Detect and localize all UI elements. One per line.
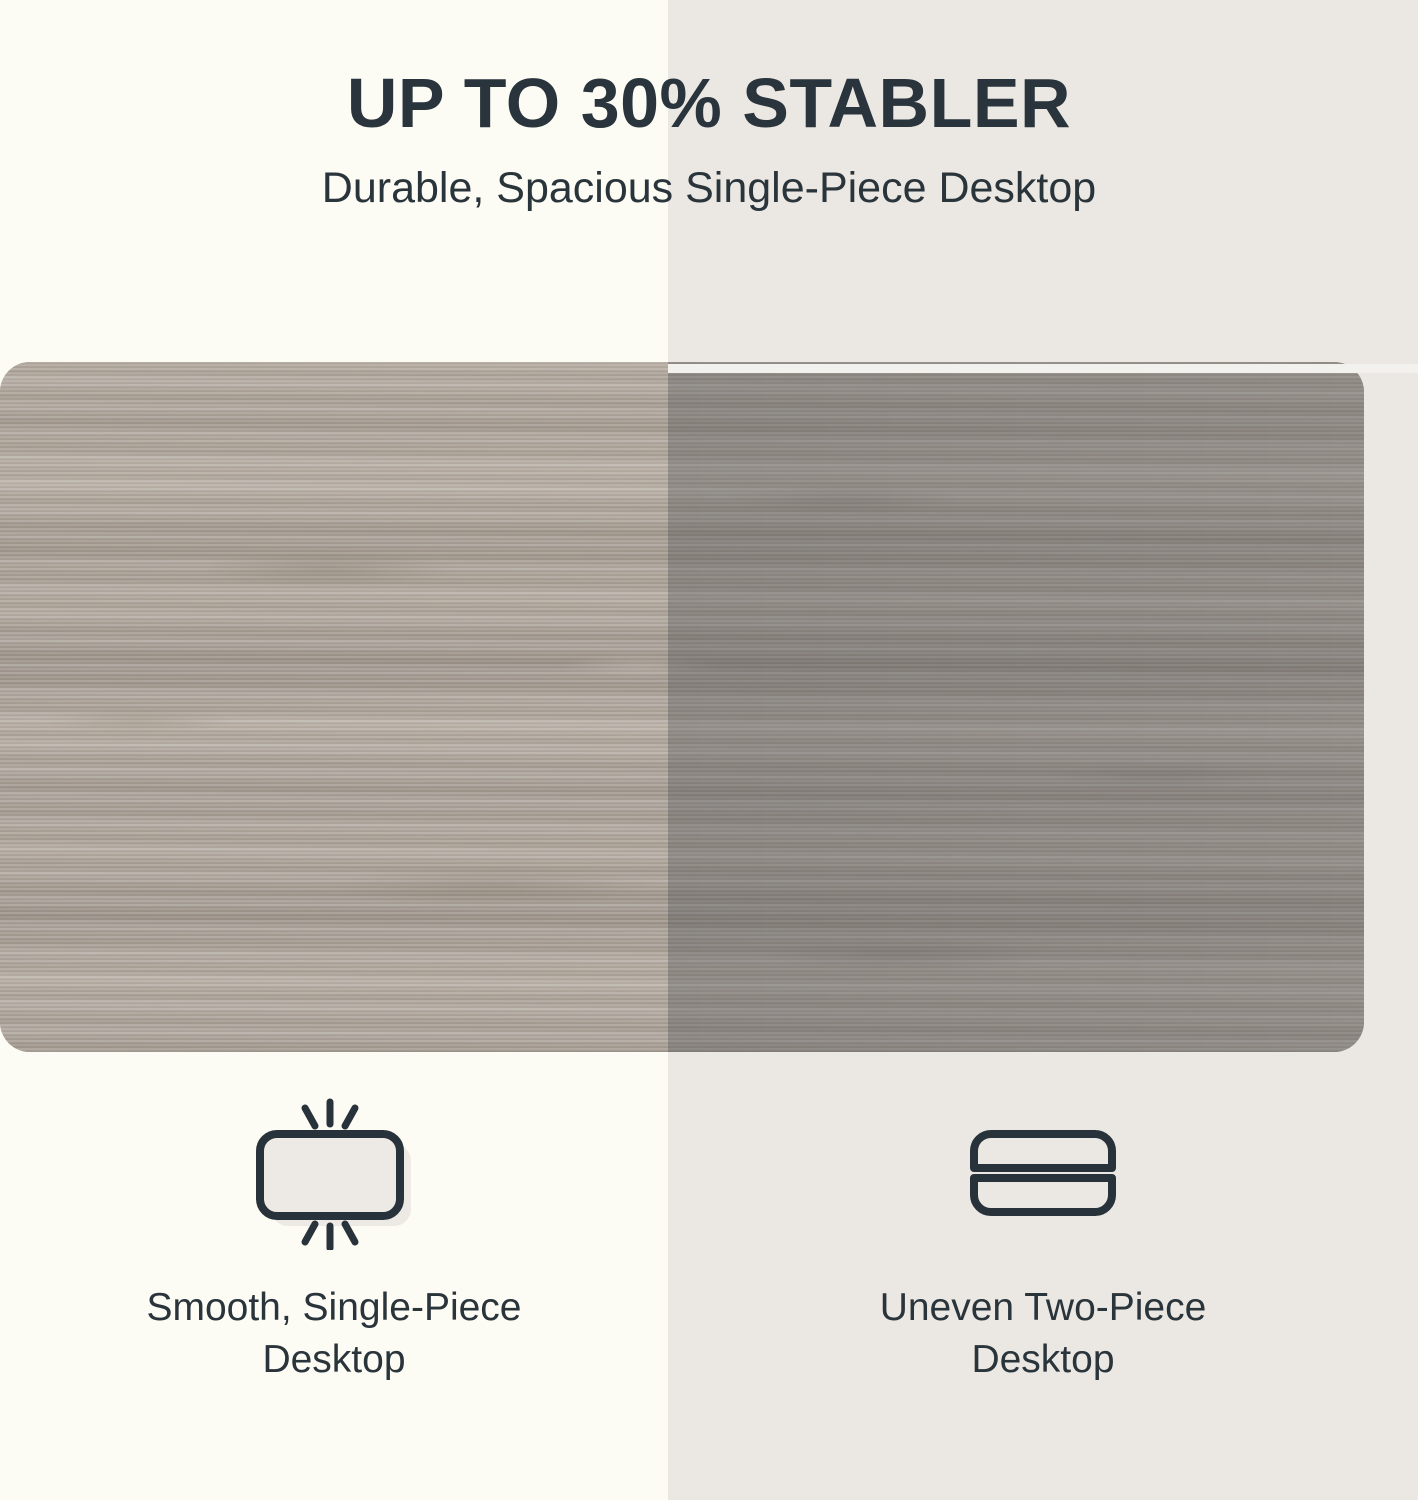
right-half-cool-overlay: [668, 362, 1364, 1052]
desktop-seam-line: [668, 364, 1418, 373]
single-piece-desktop-icon-svg: [239, 1090, 429, 1250]
single-piece-desktop-icon: [239, 1090, 429, 1250]
lower-desk-piece: [974, 1178, 1112, 1212]
comparison-caption-left: Smooth, Single-Piece Desktop: [146, 1250, 521, 1386]
caption-line-2: Desktop: [971, 1338, 1114, 1381]
two-piece-desktop-icon: [948, 1090, 1138, 1250]
sparkle-lines-top: [305, 1102, 355, 1126]
product-comparison-infographic: UP TO 30% STABLER Durable, Spacious Sing…: [0, 0, 1418, 1500]
headline: UP TO 30% STABLER: [0, 0, 1418, 140]
comparison-caption-right: Uneven Two-Piece Desktop: [880, 1250, 1207, 1386]
subheadline: Durable, Spacious Single-Piece Desktop: [0, 140, 1418, 212]
comparison-column-right: Uneven Two-Piece Desktop: [668, 1090, 1418, 1470]
two-piece-desktop-icon-svg: [948, 1090, 1138, 1250]
caption-line-1: Uneven Two-Piece: [880, 1286, 1207, 1329]
caption-line-2: Desktop: [262, 1338, 405, 1381]
comparison-row: Smooth, Single-Piece Desktop Uneven Two-…: [0, 1090, 1418, 1470]
caption-line-1: Smooth, Single-Piece: [146, 1286, 521, 1329]
desktop-product-image: [0, 362, 1364, 1052]
comparison-column-left: Smooth, Single-Piece Desktop: [0, 1090, 668, 1470]
sparkle-lines-bottom: [305, 1224, 355, 1248]
upper-desk-piece: [974, 1134, 1112, 1168]
header-block: UP TO 30% STABLER Durable, Spacious Sing…: [0, 0, 1418, 212]
